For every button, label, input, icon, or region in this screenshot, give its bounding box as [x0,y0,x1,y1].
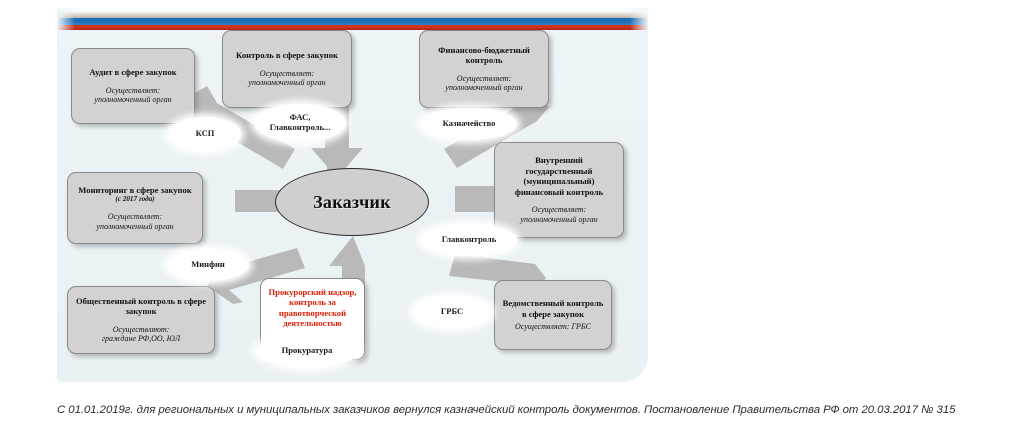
oval-treasury[interactable]: Казначейство [421,108,517,140]
oval-fas-line1: ФАС, [290,112,311,122]
oval-fas-glavkontrol[interactable]: ФАС, Главконтроль... [254,104,346,142]
box-finance-title: Финансово-бюджетный контроль [426,45,542,66]
box-control-sub-line1: Осуществляет: [260,69,314,78]
box-monitoring-note: (с 2017 года) [115,195,154,204]
russian-tricolor-bar [57,8,648,30]
oval-prosecutor-office[interactable]: Прокуратура [256,334,358,368]
oval-prosecutor-label: Прокуратура [282,346,333,356]
box-monitoring-sub-line1: Осуществляет: [108,212,162,221]
center-node-zakazchik[interactable]: Заказчик [275,168,429,236]
oval-grbs-label: ГРБС [441,307,463,317]
oval-minfin-label: Минфин [191,260,225,270]
box-public-sub: Осуществляют: граждане РФ,ОО, ЮЛ [102,325,180,344]
box-internal-state-financial-control[interactable]: Внутренний государственный (муниципальны… [494,142,624,238]
box-audit[interactable]: Аудит в сфере закупок Осуществляет: упол… [71,48,195,124]
box-audit-sub-line2: уполномоченный орган [94,95,171,104]
box-public-sub-line2: граждане РФ,ОО, ЮЛ [102,334,180,343]
box-departmental-control[interactable]: Ведомственный контроль в сфере закупок О… [494,280,612,350]
center-node-label: Заказчик [313,192,391,213]
box-control-title: Контроль в сфере закупок [236,50,338,60]
flag-stripe-blue [57,18,648,25]
flag-stripe-red [57,25,648,30]
arrow-from-prosecutor [329,236,365,284]
oval-treasury-label: Казначейство [443,119,496,129]
box-departmental-sub-line1: Осуществляет: ГРБС [515,322,591,331]
flag-gloss-highlight [57,8,648,13]
oval-grbs[interactable]: ГРБС [413,296,491,328]
box-internal-title: Внутренний государственный (муниципальны… [501,155,617,197]
box-internal-sub-line2: уполномоченный орган [520,215,597,224]
box-internal-sub-line1: Осуществляет: [532,205,586,214]
flag-taper-left [57,8,75,30]
box-audit-sub: Осуществляет: уполномоченный орган [94,86,171,105]
oval-glavkontrol-label: Главконтроль [442,235,496,245]
box-public-title: Общественный контроль в сфере закупок [74,296,208,317]
box-prosecutor-title: Прокурорский надзор, контроль за правотв… [267,287,358,329]
oval-ksp[interactable]: КСП [169,117,241,151]
box-monitoring-title: Мониторинг в сфере закупок [78,185,191,195]
box-finance-budget-control[interactable]: Финансово-бюджетный контроль Осуществляе… [419,30,549,108]
flag-taper-right [630,8,648,30]
oval-fas-line2: Главконтроль... [270,122,331,132]
box-monitoring-sub-line2: уполномоченный орган [96,222,173,231]
box-audit-sub-line1: Осуществляет: [106,86,160,95]
box-public-control[interactable]: Общественный контроль в сфере закупок Ос… [67,286,215,354]
box-finance-sub-line1: Осуществляет: [457,74,511,83]
oval-glavkontrol[interactable]: Главконтроль [421,224,517,256]
slide-canvas: Аудит в сфере закупок Осуществляет: упол… [57,8,648,382]
box-public-sub-line1: Осуществляют: [113,325,170,334]
box-audit-title: Аудит в сфере закупок [89,67,176,77]
box-internal-sub: Осуществляет: уполномоченный орган [520,205,597,224]
box-monitoring-sub: Осуществляет: уполномоченный орган [96,212,173,231]
box-departmental-sub: Осуществляет: ГРБС [515,322,591,332]
box-finance-sub: Осуществляет: уполномоченный орган [445,74,522,93]
box-departmental-title: Ведомственный контроль в сфере закупок [501,298,605,319]
box-monitoring[interactable]: Мониторинг в сфере закупок (с 2017 года)… [67,172,203,244]
box-finance-sub-line2: уполномоченный орган [445,83,522,92]
box-control-sub: Осуществляет: уполномоченный орган [248,69,325,88]
box-control-sub-line2: уполномоченный орган [248,78,325,87]
slide-caption: С 01.01.2019г. для региональных и муници… [57,404,997,416]
oval-fas-label: ФАС, Главконтроль... [270,113,331,133]
box-control-procurement[interactable]: Контроль в сфере закупок Осуществляет: у… [222,30,352,108]
oval-ksp-label: КСП [196,129,215,139]
oval-minfin[interactable]: Минфин [167,249,249,281]
